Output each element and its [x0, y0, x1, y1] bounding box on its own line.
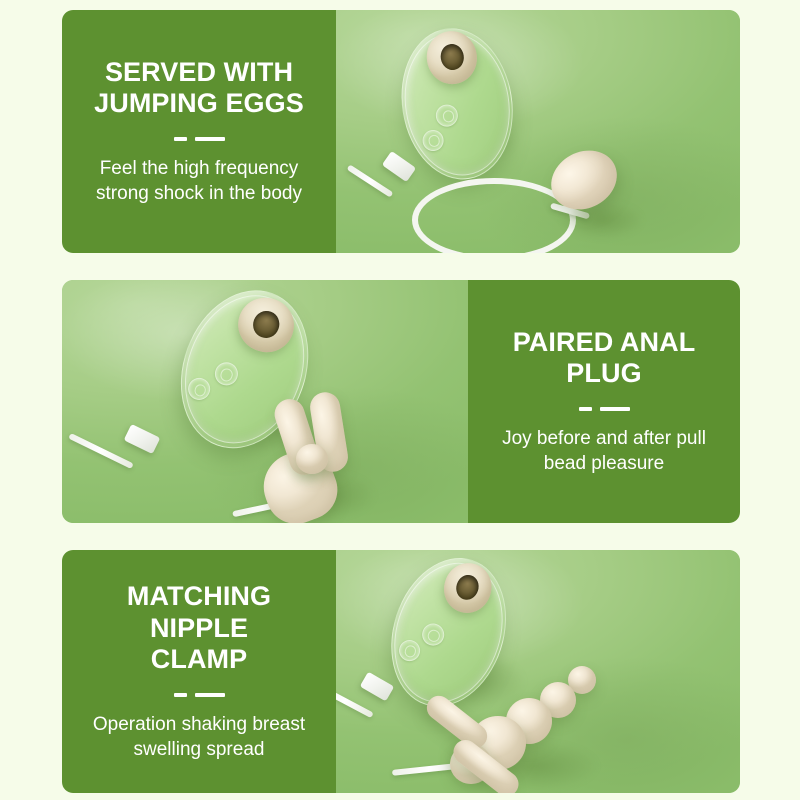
feature-panel-served-with-jumping-eggs: SERVED WITH JUMPING EGGS Feel the high f…: [62, 10, 740, 253]
panel-1-divider: [174, 137, 225, 141]
panel-1-photo: [336, 10, 740, 253]
divider-dash-long: [195, 693, 225, 697]
suction-vibrator-device: [391, 20, 521, 185]
divider-dash-short: [174, 693, 187, 697]
nozzle-opening: [439, 42, 466, 72]
panel-3-divider: [174, 693, 225, 697]
panel-2-scene: [62, 280, 468, 523]
panel-3-photo: [336, 550, 740, 793]
clamp-knob: [296, 444, 328, 474]
panel-3-subtitle: Operation shaking breast swelling spread: [93, 712, 305, 762]
nozzle-opening: [454, 572, 482, 602]
panel-2-subtitle: Joy before and after pull bead pleasure: [502, 426, 706, 476]
feature-panel-paired-anal-plug: PAIRED ANAL PLUG Joy before and after pu…: [62, 280, 740, 523]
panel-1-subtitle: Feel the high frequency strong shock in …: [96, 156, 302, 206]
rabbit-ear-clamp-accessory: [248, 390, 388, 523]
panel-3-text-pane: MATCHING NIPPLE CLAMP Operation shaking …: [62, 550, 336, 793]
panel-1-scene: [336, 10, 740, 253]
panel-2-photo: [62, 280, 468, 523]
infographic-page: SERVED WITH JUMPING EGGS Feel the high f…: [0, 0, 800, 800]
divider-dash-long: [195, 137, 225, 141]
divider-dash-short: [174, 137, 187, 141]
divider-dash-short: [579, 407, 592, 411]
feature-panel-matching-nipple-clamp: MATCHING NIPPLE CLAMP Operation shaking …: [62, 550, 740, 793]
divider-dash-long: [600, 407, 630, 411]
panel-3-scene: [336, 550, 740, 793]
panel-2-divider: [579, 407, 630, 411]
nozzle-opening: [250, 307, 283, 341]
beaded-plug-accessory: [440, 658, 620, 793]
panel-2-text-pane: PAIRED ANAL PLUG Joy before and after pu…: [468, 280, 740, 523]
panel-2-title: PAIRED ANAL PLUG: [482, 327, 726, 390]
panel-1-title: SERVED WITH JUMPING EGGS: [94, 57, 304, 120]
panel-3-title: MATCHING NIPPLE CLAMP: [76, 581, 322, 676]
panel-1-text-pane: SERVED WITH JUMPING EGGS Feel the high f…: [62, 10, 336, 253]
